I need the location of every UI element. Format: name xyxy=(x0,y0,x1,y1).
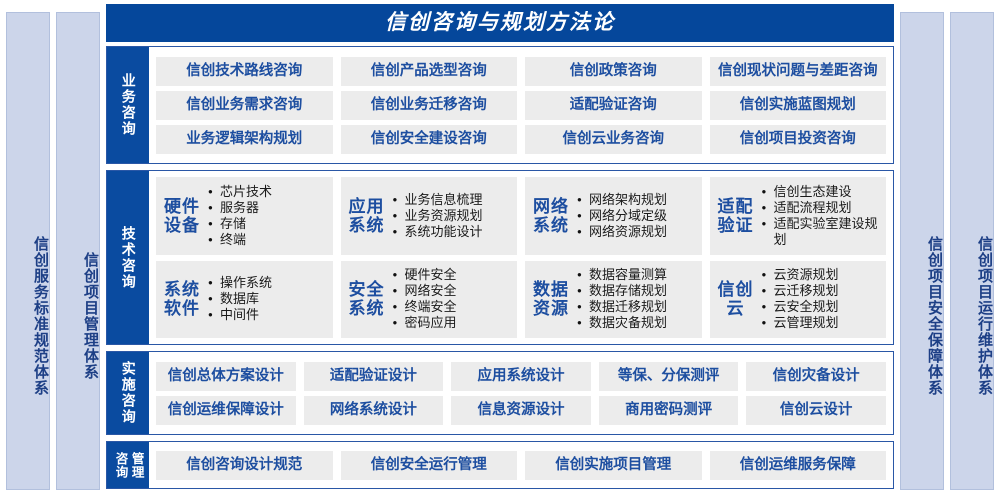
list-item[interactable]: 信创业务迁移咨询 xyxy=(341,91,518,120)
band-body-implementation-consulting: 信创总体方案设计 适配验证设计 应用系统设计 等保、分保测评 信创灾备设计 信创… xyxy=(149,352,893,434)
list-item[interactable]: 信创实施蓝图规划 xyxy=(710,91,887,120)
card-title-line: 验证 xyxy=(718,216,754,235)
band-label-consulting-management: 咨询 管理 xyxy=(107,442,149,488)
card-security-system[interactable]: 安全 系统 硬件安全 网络安全 终端安全 密码应用 xyxy=(341,261,518,339)
card-system-software[interactable]: 系统 软件 操作系统 数据库 中间件 xyxy=(156,261,333,339)
band-body-business-consulting: 信创技术路线咨询 信创产品选型咨询 信创政策咨询 信创现状问题与差距咨询 信创业… xyxy=(149,47,893,163)
card-item: 网络分域定级 xyxy=(577,208,696,224)
pillar-right-security-assurance: 信创项目安全保障体系 xyxy=(900,12,944,490)
card-item: 网络资源规划 xyxy=(577,224,696,240)
card-item: 数据库 xyxy=(208,291,327,307)
card-item: 云资源规划 xyxy=(762,267,881,283)
list-item[interactable]: 信创产品选型咨询 xyxy=(341,57,518,86)
list-item[interactable]: 信创技术路线咨询 xyxy=(156,57,333,86)
card-item: 系统功能设计 xyxy=(393,224,512,240)
list-item[interactable]: 信创业务需求咨询 xyxy=(156,91,333,120)
card-item: 云迁移规划 xyxy=(762,283,881,299)
card-item-list: 芯片技术 服务器 存储 终端 xyxy=(208,184,327,248)
card-title: 安全 系统 xyxy=(349,280,387,318)
band-technical-consulting: 技术咨询 硬件 设备 芯片技术 服务器 存储 终端 xyxy=(106,170,894,345)
list-item[interactable]: 信息资源设计 xyxy=(451,396,591,425)
band-body-technical-consulting: 硬件 设备 芯片技术 服务器 存储 终端 应用 xyxy=(149,171,893,344)
card-network-system[interactable]: 网络 系统 网络架构规划 网络分域定级 网络资源规划 xyxy=(525,177,702,255)
card-hardware-equipment[interactable]: 硬件 设备 芯片技术 服务器 存储 终端 xyxy=(156,177,333,255)
list-item[interactable]: 适配验证咨询 xyxy=(525,91,702,120)
card-title-line: 系统 xyxy=(349,216,385,235)
card-row: 硬件 设备 芯片技术 服务器 存储 终端 应用 xyxy=(156,177,886,255)
table-row: 业务逻辑架构规划 信创安全建设咨询 信创云业务咨询 信创项目投资咨询 xyxy=(156,125,886,154)
list-item[interactable]: 信创项目投资咨询 xyxy=(710,125,887,154)
list-item[interactable]: 信创实施项目管理 xyxy=(525,451,702,480)
list-item[interactable]: 信创灾备设计 xyxy=(746,362,886,391)
card-item-list: 操作系统 数据库 中间件 xyxy=(208,275,327,323)
card-title: 信创 云 xyxy=(718,280,756,318)
card-xinchuang-cloud[interactable]: 信创 云 云资源规划 云迁移规划 云安全规划 云管理规划 xyxy=(710,261,887,339)
card-title-line: 系统 xyxy=(164,280,200,299)
card-item: 业务资源规划 xyxy=(393,208,512,224)
card-item: 操作系统 xyxy=(208,275,327,291)
card-item-list: 网络架构规划 网络分域定级 网络资源规划 xyxy=(577,192,696,240)
band-label-implementation-consulting: 实施咨询 xyxy=(107,352,149,434)
card-item: 数据容量测算 xyxy=(577,267,696,283)
card-title: 应用 系统 xyxy=(349,197,387,235)
band-label-technical-consulting: 技术咨询 xyxy=(107,171,149,344)
pillar-left-project-management: 信创项目管理体系 xyxy=(56,12,100,490)
list-item[interactable]: 信创现状问题与差距咨询 xyxy=(710,57,887,86)
list-item[interactable]: 信创安全建设咨询 xyxy=(341,125,518,154)
band-body-consulting-management: 信创咨询设计规范 信创安全运行管理 信创实施项目管理 信创运维服务保障 xyxy=(149,442,893,488)
center-column: 信创咨询与规划方法论 业务咨询 信创技术路线咨询 信创产品选型咨询 信创政策咨询… xyxy=(106,4,894,490)
card-title-line: 适配 xyxy=(718,197,754,216)
card-item: 芯片技术 xyxy=(208,184,327,200)
card-data-resource[interactable]: 数据 资源 数据容量测算 数据存储规划 数据迁移规划 数据灾备规划 xyxy=(525,261,702,339)
card-item-list: 硬件安全 网络安全 终端安全 密码应用 xyxy=(393,267,512,331)
band-implementation-consulting: 实施咨询 信创总体方案设计 适配验证设计 应用系统设计 等保、分保测评 信创灾备… xyxy=(106,351,894,435)
card-item-list: 信创生态建设 适配流程规划 适配实验室建设规划 xyxy=(762,184,881,248)
card-item-list: 业务信息梳理 业务资源规划 系统功能设计 xyxy=(393,192,512,240)
card-item: 网络架构规划 xyxy=(577,192,696,208)
card-item: 硬件安全 xyxy=(393,267,512,283)
band-label-business-consulting: 业务咨询 xyxy=(107,47,149,163)
card-item: 中间件 xyxy=(208,307,327,323)
card-title: 适配 验证 xyxy=(718,197,756,235)
card-item: 数据灾备规划 xyxy=(577,315,696,331)
card-item: 终端安全 xyxy=(393,299,512,315)
band-consulting-management: 咨询 管理 信创咨询设计规范 信创安全运行管理 信创实施项目管理 信创运维服务保… xyxy=(106,441,894,489)
card-item-list: 云资源规划 云迁移规划 云安全规划 云管理规划 xyxy=(762,267,881,331)
pillar-left-service-standard: 信创服务标准规范体系 xyxy=(6,12,50,490)
pillar-right-operation-maintenance: 信创项目运行维护体系 xyxy=(950,12,994,490)
card-application-system[interactable]: 应用 系统 业务信息梳理 业务资源规划 系统功能设计 xyxy=(341,177,518,255)
card-title-line: 系统 xyxy=(349,299,385,318)
card-item: 适配实验室建设规划 xyxy=(762,216,881,248)
card-title-line: 硬件 xyxy=(164,197,200,216)
card-title: 硬件 设备 xyxy=(164,197,202,235)
card-item: 密码应用 xyxy=(393,315,512,331)
card-title-line: 系统 xyxy=(533,216,569,235)
table-row: 信创技术路线咨询 信创产品选型咨询 信创政策咨询 信创现状问题与差距咨询 xyxy=(156,57,886,86)
band-label-part: 咨询 xyxy=(113,452,126,479)
card-title-line: 设备 xyxy=(164,216,200,235)
list-item[interactable]: 信创运维服务保障 xyxy=(710,451,887,480)
card-title-line: 数据 xyxy=(533,280,569,299)
card-item: 服务器 xyxy=(208,200,327,216)
card-title: 网络 系统 xyxy=(533,197,571,235)
list-item[interactable]: 信创总体方案设计 xyxy=(156,362,296,391)
list-item[interactable]: 适配验证设计 xyxy=(304,362,444,391)
card-item-list: 数据容量测算 数据存储规划 数据迁移规划 数据灾备规划 xyxy=(577,267,696,331)
list-item[interactable]: 信创安全运行管理 xyxy=(341,451,518,480)
card-item: 网络安全 xyxy=(393,283,512,299)
card-title-line: 网络 xyxy=(533,197,569,216)
list-item[interactable]: 网络系统设计 xyxy=(304,396,444,425)
table-row: 信创运维保障设计 网络系统设计 信息资源设计 商用密码测评 信创云设计 xyxy=(156,396,886,425)
list-item[interactable]: 信创运维保障设计 xyxy=(156,396,296,425)
methodology-diagram: 信创服务标准规范体系 信创项目管理体系 信创咨询与规划方法论 业务咨询 信创技术… xyxy=(0,0,1000,496)
list-item[interactable]: 业务逻辑架构规划 xyxy=(156,125,333,154)
band-label-part: 管理 xyxy=(130,452,143,479)
table-row: 信创咨询设计规范 信创安全运行管理 信创实施项目管理 信创运维服务保障 xyxy=(156,451,886,480)
table-row: 信创总体方案设计 适配验证设计 应用系统设计 等保、分保测评 信创灾备设计 xyxy=(156,362,886,391)
list-item[interactable]: 信创云业务咨询 xyxy=(525,125,702,154)
card-item: 业务信息梳理 xyxy=(393,192,512,208)
card-item: 终端 xyxy=(208,232,327,248)
card-title-line: 资源 xyxy=(533,299,569,318)
card-item: 适配流程规划 xyxy=(762,200,881,216)
page-title: 信创咨询与规划方法论 xyxy=(106,4,894,42)
card-row: 系统 软件 操作系统 数据库 中间件 安全 系统 xyxy=(156,261,886,339)
card-title-line: 信创 xyxy=(718,280,754,299)
list-item[interactable]: 信创云设计 xyxy=(746,396,886,425)
list-item[interactable]: 信创咨询设计规范 xyxy=(156,451,333,480)
card-title-line: 应用 xyxy=(349,197,385,216)
list-item[interactable]: 商用密码测评 xyxy=(599,396,739,425)
card-item: 数据迁移规划 xyxy=(577,299,696,315)
band-business-consulting: 业务咨询 信创技术路线咨询 信创产品选型咨询 信创政策咨询 信创现状问题与差距咨… xyxy=(106,46,894,164)
card-title: 系统 软件 xyxy=(164,280,202,318)
card-adaptation-verification[interactable]: 适配 验证 信创生态建设 适配流程规划 适配实验室建设规划 xyxy=(710,177,887,255)
list-item[interactable]: 等保、分保测评 xyxy=(599,362,739,391)
list-item[interactable]: 信创政策咨询 xyxy=(525,57,702,86)
card-item: 信创生态建设 xyxy=(762,184,881,200)
table-row: 信创业务需求咨询 信创业务迁移咨询 适配验证咨询 信创实施蓝图规划 xyxy=(156,91,886,120)
list-item[interactable]: 应用系统设计 xyxy=(451,362,591,391)
card-title-line: 云 xyxy=(718,299,754,318)
card-title-line: 安全 xyxy=(349,280,385,299)
card-item: 云管理规划 xyxy=(762,315,881,331)
card-title-line: 软件 xyxy=(164,299,200,318)
card-item: 存储 xyxy=(208,216,327,232)
card-item: 云安全规划 xyxy=(762,299,881,315)
card-item: 数据存储规划 xyxy=(577,283,696,299)
card-title: 数据 资源 xyxy=(533,280,571,318)
